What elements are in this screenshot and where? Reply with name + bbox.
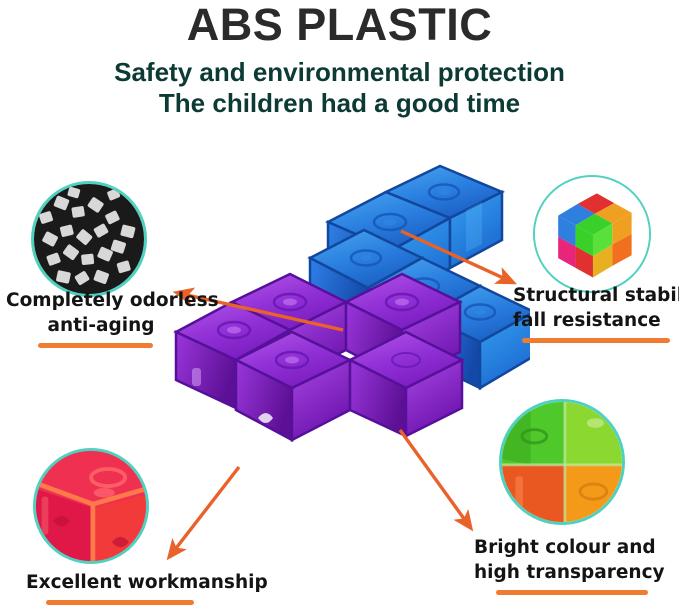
feature-label-bright: Bright colour and high transparency — [474, 535, 679, 595]
feature-label-workmanship: Excellent workmanship — [26, 570, 276, 605]
green-orange-cube-photo — [499, 399, 625, 525]
feature-structural-underline — [522, 338, 670, 343]
abs-plastic-pellets-photo — [31, 181, 147, 297]
feature-bright-underline — [496, 590, 648, 595]
feature-structural-line-2: fall resistance — [513, 308, 678, 333]
feature-bright-line-2: high transparency — [474, 560, 679, 585]
purple-cube-group — [176, 274, 462, 440]
feature-label-structural: Structural stability fall resistance — [513, 283, 678, 343]
red-cube-closeup-photo — [33, 448, 149, 564]
feature-bright-line-1: Bright colour and — [474, 535, 679, 560]
feature-structural-line-1: Structural stability — [513, 283, 678, 308]
feature-workmanship-line-1: Excellent workmanship — [26, 570, 276, 595]
arrow-to-workmanship — [170, 467, 239, 556]
feature-odorless-underline — [38, 343, 153, 348]
feature-workmanship-underline — [46, 600, 194, 605]
feature-odorless-line-1: Completely odorless — [6, 288, 196, 313]
assembled-colour-cube-photo — [533, 175, 651, 293]
infographic-poster: ABS PLASTIC Safety and environmental pro… — [0, 0, 679, 612]
feature-label-odorless: Completely odorless anti-aging — [6, 288, 196, 348]
subtitle-line-2: The children had a good time — [0, 88, 679, 118]
page-title: ABS PLASTIC — [0, 1, 679, 49]
feature-odorless-line-2: anti-aging — [6, 313, 196, 338]
subtitle-line-1: Safety and environmental protection — [0, 57, 679, 87]
